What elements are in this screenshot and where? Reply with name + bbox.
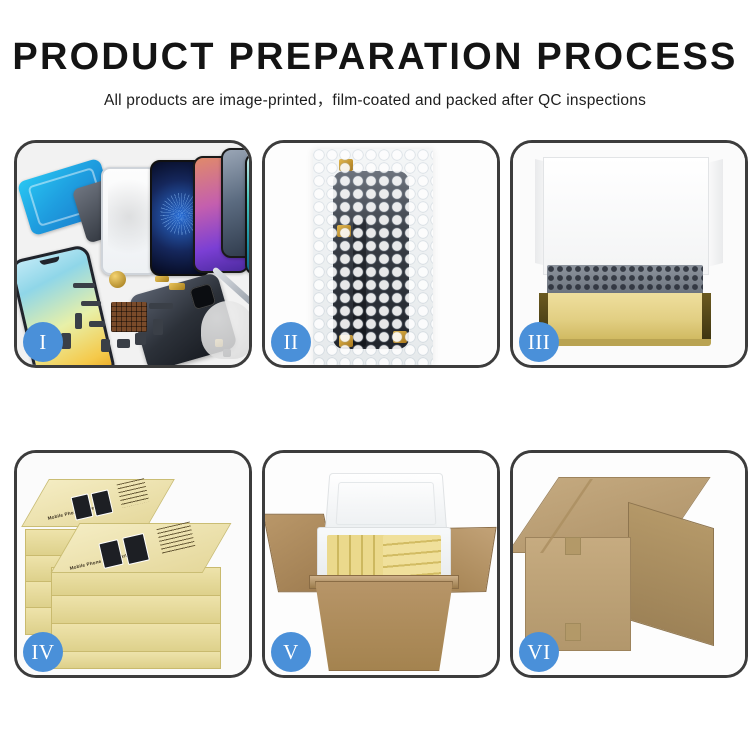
- bubble-wrap-bag-graphic: [313, 149, 433, 365]
- page-title: PRODUCT PREPARATION PROCESS: [0, 38, 750, 76]
- process-step-grid: I II: [14, 140, 736, 678]
- box-base-graphic: [539, 339, 711, 346]
- step-badge-4: IV: [23, 632, 63, 672]
- small-part-graphic: [135, 333, 146, 345]
- yellow-inner-box-graphic: [539, 293, 711, 341]
- circuit-board-graphic: [111, 302, 147, 332]
- small-part-graphic: [149, 303, 173, 309]
- teal-phone-graphic: [245, 153, 249, 275]
- process-step-2: II: [262, 140, 500, 368]
- small-part-graphic: [153, 319, 163, 335]
- page-subtitle: All products are image-printed，film-coat…: [0, 88, 750, 110]
- bubble-texture-graphic: [313, 149, 433, 365]
- stacked-box: [51, 651, 221, 669]
- step-badge-2: II: [271, 322, 311, 362]
- process-step-1: I: [14, 140, 252, 368]
- small-part-graphic: [155, 276, 169, 282]
- small-part-graphic: [117, 339, 130, 348]
- stacked-box: [51, 623, 221, 653]
- header: PRODUCT PREPARATION PROCESS All products…: [0, 0, 750, 110]
- white-foam-lid-graphic: [543, 157, 709, 275]
- foam-lid-right-graphic: [707, 159, 723, 267]
- small-part-graphic: [169, 283, 185, 290]
- speaker-coil-graphic: [109, 271, 126, 288]
- small-part-graphic: [81, 301, 101, 306]
- carton-tape-graphic: [565, 623, 581, 641]
- stacked-box: [51, 595, 221, 625]
- hand-graphic: [201, 301, 249, 359]
- step-badge-6: VI: [519, 632, 559, 672]
- small-part-graphic: [73, 283, 95, 288]
- process-step-5: V: [262, 450, 500, 678]
- small-part-graphic: [101, 339, 110, 352]
- carton-body-graphic: [315, 581, 453, 671]
- carton-tape-graphic: [565, 537, 581, 555]
- step-badge-1: I: [23, 322, 63, 362]
- small-part-graphic: [75, 313, 82, 329]
- process-step-4: Mobile Phone Spare Parts Mobile Phone Sp…: [14, 450, 252, 678]
- step-badge-5: V: [271, 632, 311, 672]
- step-badge-3: III: [519, 322, 559, 362]
- product-preparation-infographic: PRODUCT PREPARATION PROCESS All products…: [0, 0, 750, 750]
- process-step-3: III: [510, 140, 748, 368]
- screen-protector-graphic: [101, 167, 157, 275]
- small-part-graphic: [89, 321, 105, 327]
- process-step-6: VI: [510, 450, 748, 678]
